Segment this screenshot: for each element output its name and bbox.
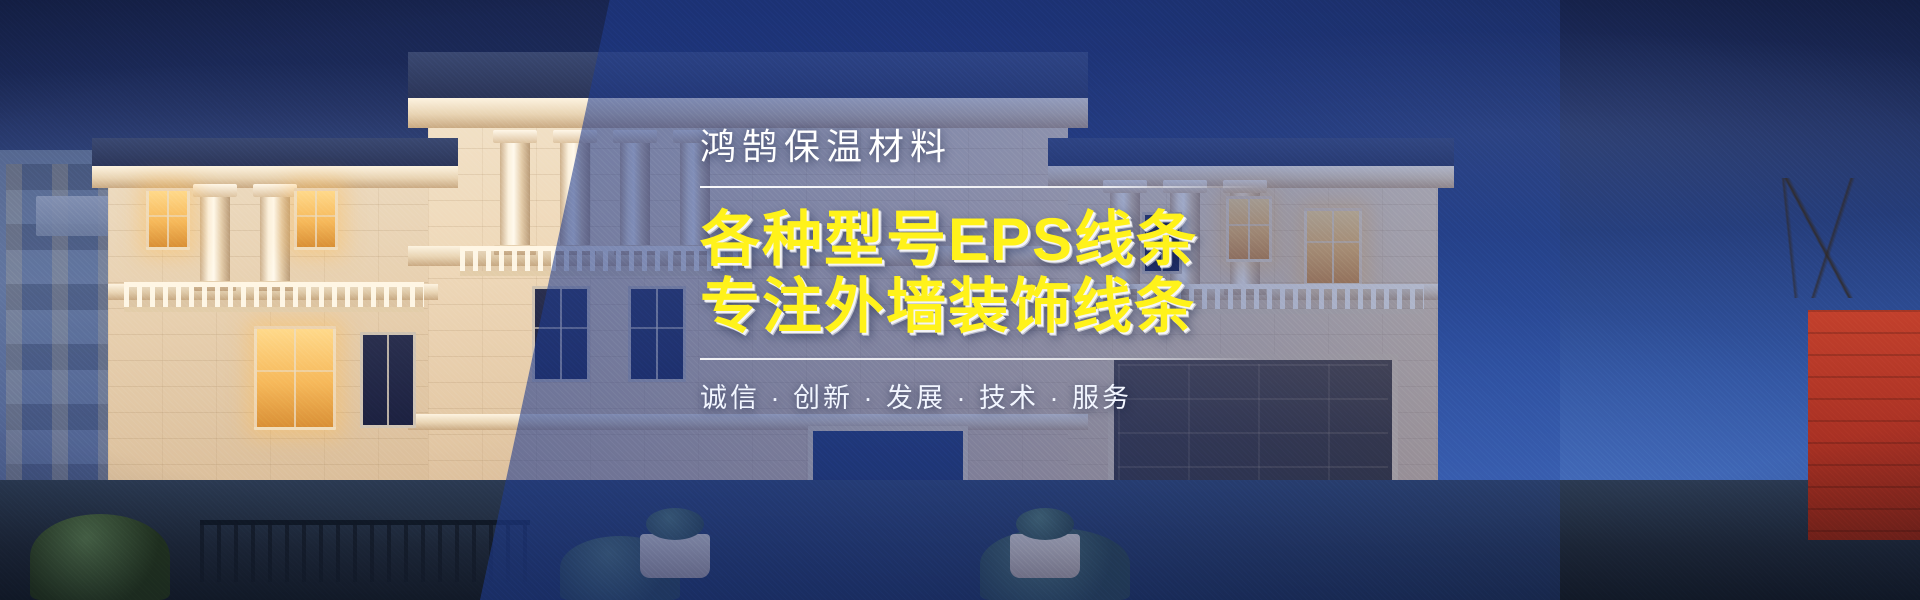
company-name: 鸿鹄保温材料 <box>700 118 1260 170</box>
promo-banner: 鸿鹄保温材料 各种型号EPS线条 专注外墙装饰线条 诚信 · 创新 · 发展 ·… <box>0 0 1920 600</box>
headline-line-1: 各种型号EPS线条 <box>700 206 1260 273</box>
banner-copy: 鸿鹄保温材料 各种型号EPS线条 专注外墙装饰线条 诚信 · 创新 · 发展 ·… <box>700 118 1260 415</box>
slogan: 诚信 · 创新 · 发展 · 技术 · 服务 <box>700 376 1260 415</box>
headline-line-2: 专注外墙装饰线条 <box>700 273 1260 340</box>
divider-top <box>700 186 1260 188</box>
divider-bottom <box>700 358 1260 360</box>
